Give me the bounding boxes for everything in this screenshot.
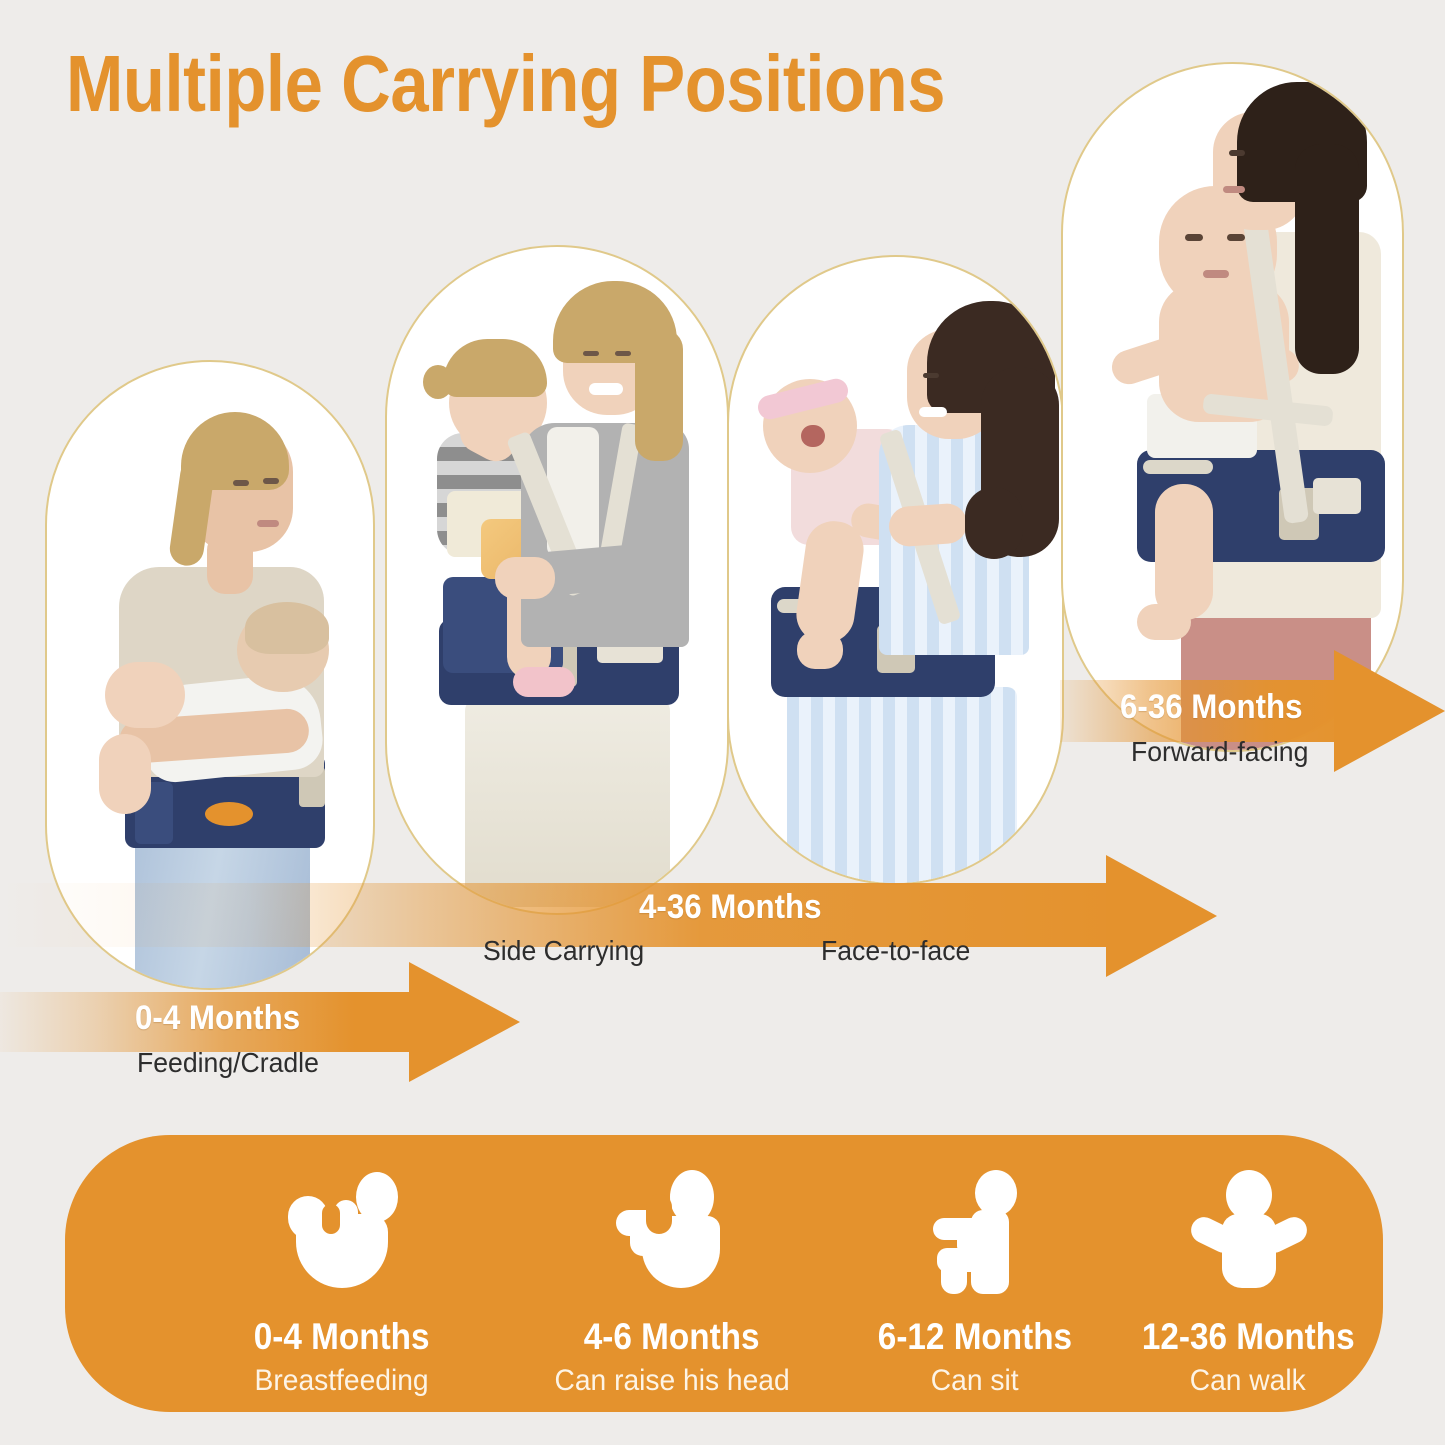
baby-lying-icon	[282, 1170, 402, 1290]
milestone-item-0-4-months: 0-4 Months Breastfeeding	[177, 1135, 507, 1412]
arrow-4-36-months-sublabel-face-to-face: Face-to-face	[821, 935, 970, 967]
milestone-banner: 0-4 Months Breastfeeding 4-6 Months Can …	[65, 1135, 1383, 1412]
arrow-4-36-months-label: 4-36 Months	[639, 888, 821, 927]
arrow-head	[1106, 855, 1217, 977]
milestone-months: 6-12 Months	[878, 1316, 1072, 1358]
baby-sitting-icon	[915, 1170, 1035, 1290]
arrow-6-36-months-sublabel-forward-facing: Forward-facing	[1131, 736, 1308, 768]
photo-card-forward-facing	[1061, 62, 1404, 752]
arrow-head	[1334, 650, 1445, 772]
milestone-item-12-36-months: 12-36 Months Can walk	[1113, 1135, 1383, 1412]
photo-card-side-carrying	[385, 245, 729, 915]
photo-forward	[1063, 64, 1402, 750]
arrow-head	[409, 962, 520, 1082]
milestone-item-4-6-months: 4-6 Months Can raise his head	[507, 1135, 837, 1412]
milestone-desc: Can walk	[1190, 1364, 1306, 1398]
milestone-months: 4-6 Months	[584, 1316, 760, 1358]
photo-card-face-to-face	[727, 255, 1064, 885]
milestone-desc: Can sit	[931, 1364, 1019, 1398]
milestone-item-6-12-months: 6-12 Months Can sit	[837, 1135, 1113, 1412]
arrow-0-4-months-label: 0-4 Months	[135, 999, 300, 1038]
milestone-months: 12-36 Months	[1142, 1316, 1355, 1358]
photo-side-carry	[387, 247, 727, 913]
infographic-canvas: Multiple Carrying Positions	[0, 0, 1445, 1445]
baby-standing-icon	[1188, 1170, 1308, 1290]
baby-prone-icon	[612, 1170, 732, 1290]
arrow-6-36-months-label: 6-36 Months	[1120, 688, 1302, 727]
milestone-months: 0-4 Months	[254, 1316, 430, 1358]
photo-face-to-face	[729, 257, 1062, 883]
milestone-desc: Breastfeeding	[255, 1364, 429, 1398]
arrow-0-4-months-sublabel-feeding-cradle: Feeding/Cradle	[137, 1047, 319, 1079]
page-title: Multiple Carrying Positions	[66, 38, 945, 130]
milestone-desc: Can raise his head	[554, 1364, 789, 1398]
